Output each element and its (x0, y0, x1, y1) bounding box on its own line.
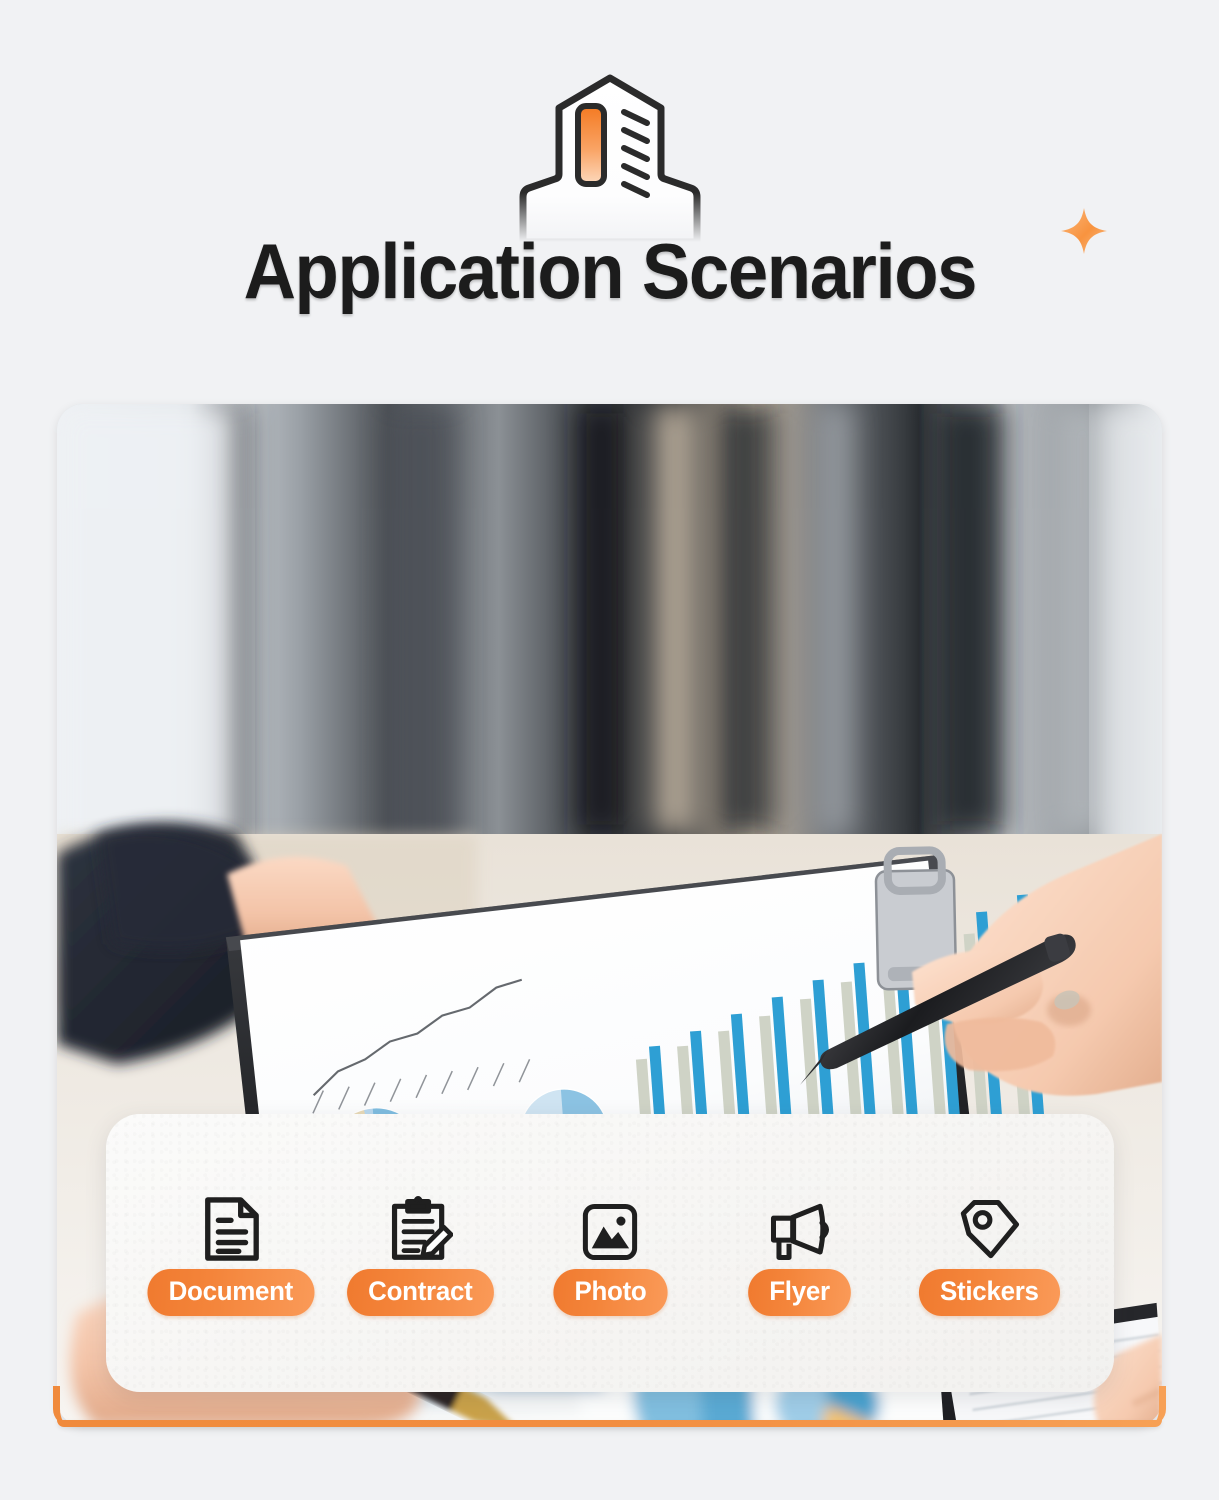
scenario-item-stickers[interactable]: Stickers (894, 1191, 1084, 1316)
sparkle-icon (1057, 204, 1111, 258)
scenario-item-document[interactable]: Document (136, 1191, 326, 1316)
page-title-row: Application Scenarios (0, 232, 1219, 310)
scenario-label-flyer: Flyer (748, 1269, 851, 1316)
scenario-item-flyer[interactable]: Flyer (705, 1191, 895, 1316)
application-scenarios-page: Application Scenarios (0, 0, 1219, 1500)
scenario-badge-list: Document (106, 1114, 1114, 1392)
scenario-label-stickers: Stickers (919, 1269, 1060, 1316)
building-skyscraper-icon (495, 62, 725, 242)
photo-accent-underline (57, 1420, 1162, 1427)
price-tag-icon (954, 1191, 1024, 1263)
application-scenarios-panel: Document (106, 1114, 1114, 1392)
clipboard-pen-icon (385, 1191, 455, 1263)
scenario-label-document: Document (147, 1269, 314, 1316)
document-icon (196, 1191, 266, 1263)
scenario-item-contract[interactable]: Contract (326, 1191, 516, 1316)
scenario-item-photo[interactable]: Photo (515, 1191, 705, 1316)
page-header: Application Scenarios (0, 0, 1219, 390)
image-icon (575, 1191, 645, 1263)
megaphone-icon (765, 1191, 835, 1263)
scenario-label-contract: Contract (347, 1269, 494, 1316)
scenario-label-photo: Photo (553, 1269, 667, 1316)
page-title: Application Scenarios (243, 232, 976, 310)
